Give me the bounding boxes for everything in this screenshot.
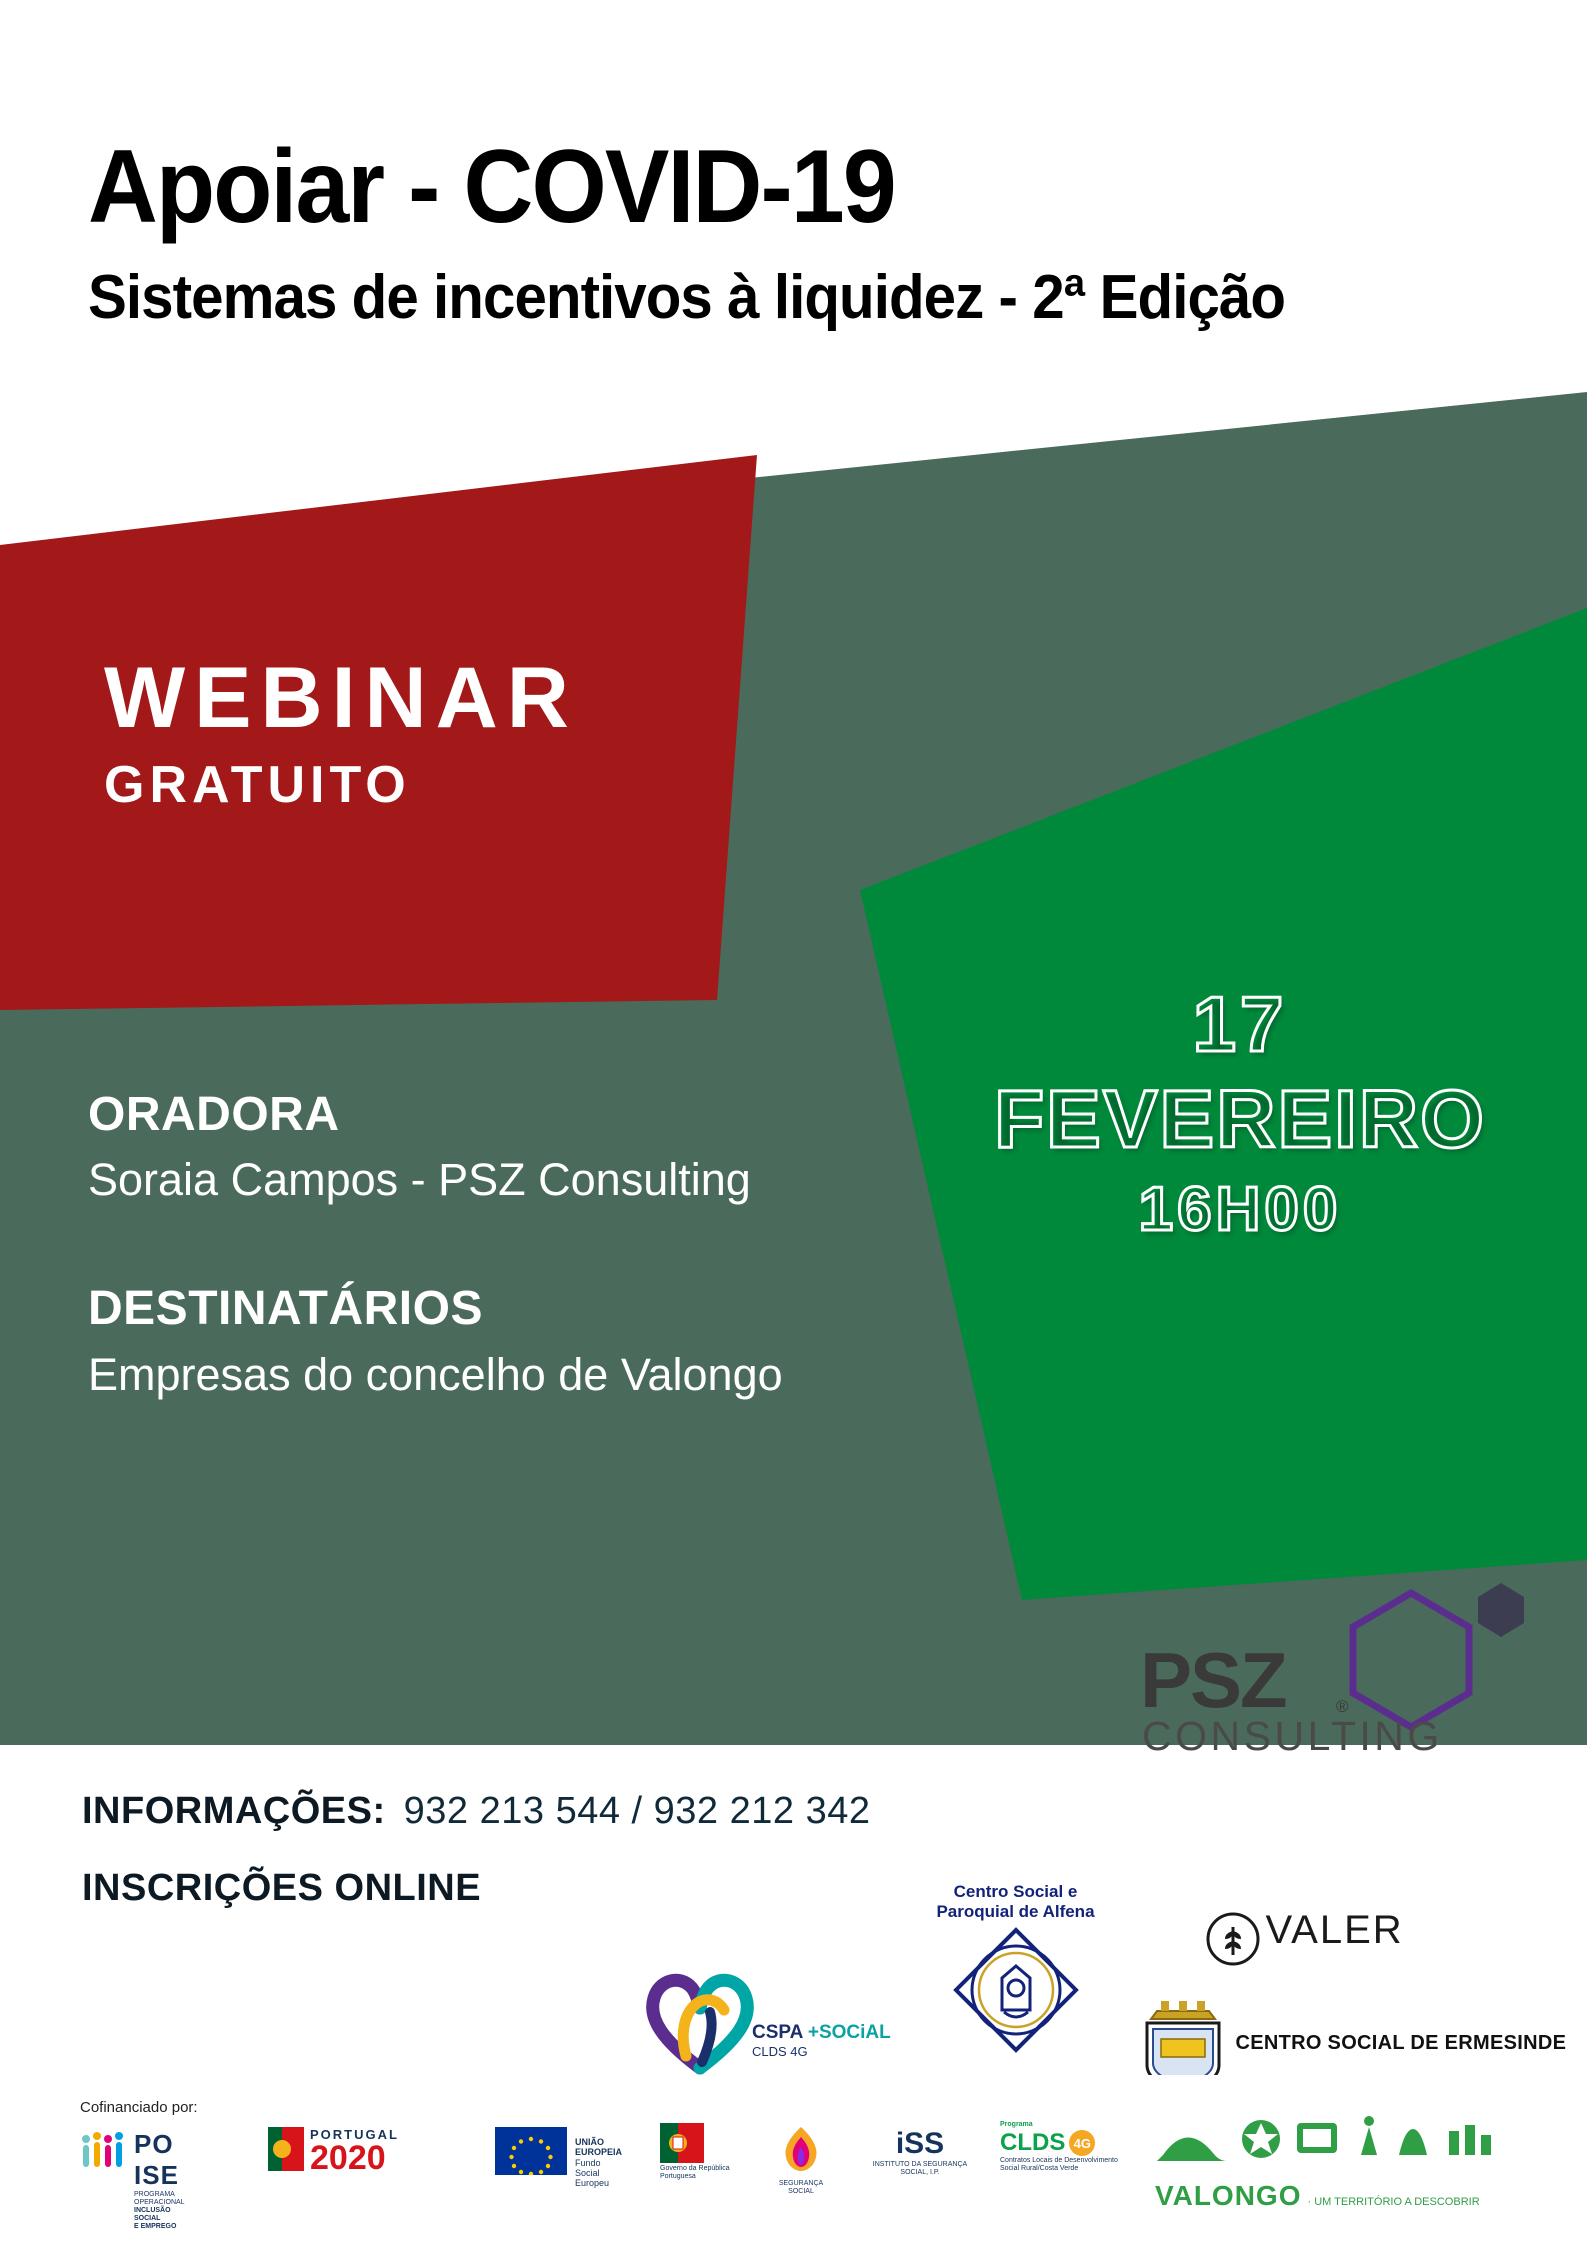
event-day: 17 (960, 985, 1520, 1063)
event-month: FEVEREIRO (960, 1079, 1520, 1161)
portugal2020-year: 2020 (310, 2142, 399, 2174)
valer-name: VALER (1265, 1908, 1403, 1952)
webinar-badge: WEBINAR GRATUITO (104, 655, 578, 811)
funding-footer: Cofinanciado por: PO ISE PROGRAMA OPERAC… (0, 2075, 1587, 2245)
information-label: INFORMAÇÕES: (82, 1790, 386, 1833)
cspa-program: CLDS 4G (752, 2044, 891, 2059)
cofinanced-label: Cofinanciado por: (80, 2099, 198, 2116)
alfena-logo: Centro Social e Paroquial de Alfena (898, 1882, 1133, 2059)
ermesinde-name: CENTRO SOCIAL DE ERMESINDE (1235, 2032, 1566, 2054)
seguranca-flame-icon (772, 2123, 830, 2173)
republica-logo: Governo da República Portuguesa (660, 2123, 704, 2175)
poise-line3: E EMPREGO (134, 2223, 185, 2231)
valongo-name: VALONGO (1155, 2180, 1301, 2212)
clds-label: Contratos Locais de Desenvolvimento Soci… (1000, 2157, 1130, 2173)
valer-logo: VALER (1205, 1908, 1404, 1967)
psz-tagline: CONSULTING (1142, 1713, 1443, 1760)
portugal-flag-icon (268, 2123, 304, 2179)
poise-people-icon (78, 2127, 128, 2177)
cspa-heart-icon (640, 1960, 760, 2080)
clds-logo: Programa CLDS 4G Contratos Locais de Des… (1000, 2121, 1130, 2173)
poster-headline: Apoiar - COVID-19 Sistemas de incentivos… (88, 135, 1508, 329)
cspa-logo: CSPA +SOCiAL CLDS 4G (640, 1960, 760, 2085)
eu-flag-icon (495, 2127, 567, 2175)
audience-value: Empresas do concelho de Valongo (88, 1349, 848, 1401)
iss-label: INSTITUTO DA SEGURANÇA SOCIAL, I.P. (870, 2161, 970, 2177)
poster-root: Apoiar - COVID-19 Sistemas de incentivos… (0, 0, 1587, 2245)
valongo-tagline: · UM TERRITÓRIO A DESCOBRIR (1307, 2196, 1479, 2208)
iss-mark: iSS (880, 2127, 960, 2161)
event-date-block: 17 FEVEREIRO 16H00 (960, 985, 1520, 1241)
eu-line1: UNIÃO EUROPEIA (575, 2137, 622, 2158)
webinar-subtitle: GRATUITO (104, 759, 578, 811)
poise-line1: PROGRAMA OPERACIONAL (134, 2191, 185, 2207)
audience-label: DESTINATÁRIOS (88, 1284, 848, 1334)
valongo-pictograms-icon (1155, 2111, 1495, 2173)
alfena-line1: Centro Social e (898, 1882, 1133, 1902)
eu-logo: UNIÃO EUROPEIA Fundo Social Europeu (495, 2127, 567, 2175)
page-title: Apoiar - COVID-19 (88, 135, 1409, 239)
info-block: ORADORA Soraia Campos - PSZ Consulting D… (88, 1090, 848, 1400)
page-subtitle: Sistemas de incentivos à liquidez - 2ª E… (88, 267, 1423, 329)
clds-name: CLDS (1000, 2129, 1065, 2157)
seguranca-label: SEGURANÇA SOCIAL (772, 2180, 830, 2196)
clds-generation: 4G (1069, 2130, 1095, 2156)
iss-logo: iSS INSTITUTO DA SEGURANÇA SOCIAL, I.P. (880, 2127, 970, 2177)
poise-title: PO ISE (134, 2129, 185, 2191)
webinar-title: WEBINAR (104, 655, 578, 741)
info-spacer (88, 1206, 848, 1284)
eu-line2: Fundo Social Europeu (575, 2158, 622, 2189)
psz-dot-icon (1470, 1579, 1532, 1646)
cspa-plus-social: +SOCiAL (808, 2022, 891, 2043)
information-row: INFORMAÇÕES: 932 213 544 / 932 212 342 (82, 1790, 1082, 1833)
psz-consulting-logo: PSZ ® CONSULTING (1140, 1605, 1460, 1795)
portugal2020-logo: PORTUGAL 2020 (268, 2123, 304, 2179)
seguranca-social-logo: SEGURANÇA SOCIAL (772, 2123, 830, 2196)
poise-line2: INCLUSÃO SOCIAL (134, 2207, 185, 2223)
republica-line1: Governo da República (660, 2165, 746, 2173)
republica-line2: Portuguesa (660, 2173, 746, 2181)
clds-program: Programa (1000, 2121, 1130, 2129)
valongo-logo: VALONGO · UM TERRITÓRIO A DESCOBRIR (1155, 2111, 1495, 2212)
speaker-label: ORADORA (88, 1090, 848, 1140)
valer-wheat-icon (1205, 1911, 1261, 1967)
alfena-line2: Paroquial de Alfena (898, 1902, 1133, 1922)
information-phones: 932 213 544 / 932 212 342 (404, 1790, 871, 1833)
event-time: 16H00 (960, 1179, 1520, 1241)
speaker-value: Soraia Campos - PSZ Consulting (88, 1154, 848, 1206)
cspa-name: CSPA (752, 2022, 803, 2043)
poise-logo: PO ISE PROGRAMA OPERACIONAL INCLUSÃO SOC… (78, 2127, 128, 2177)
alfena-seal-icon (952, 1926, 1080, 2054)
